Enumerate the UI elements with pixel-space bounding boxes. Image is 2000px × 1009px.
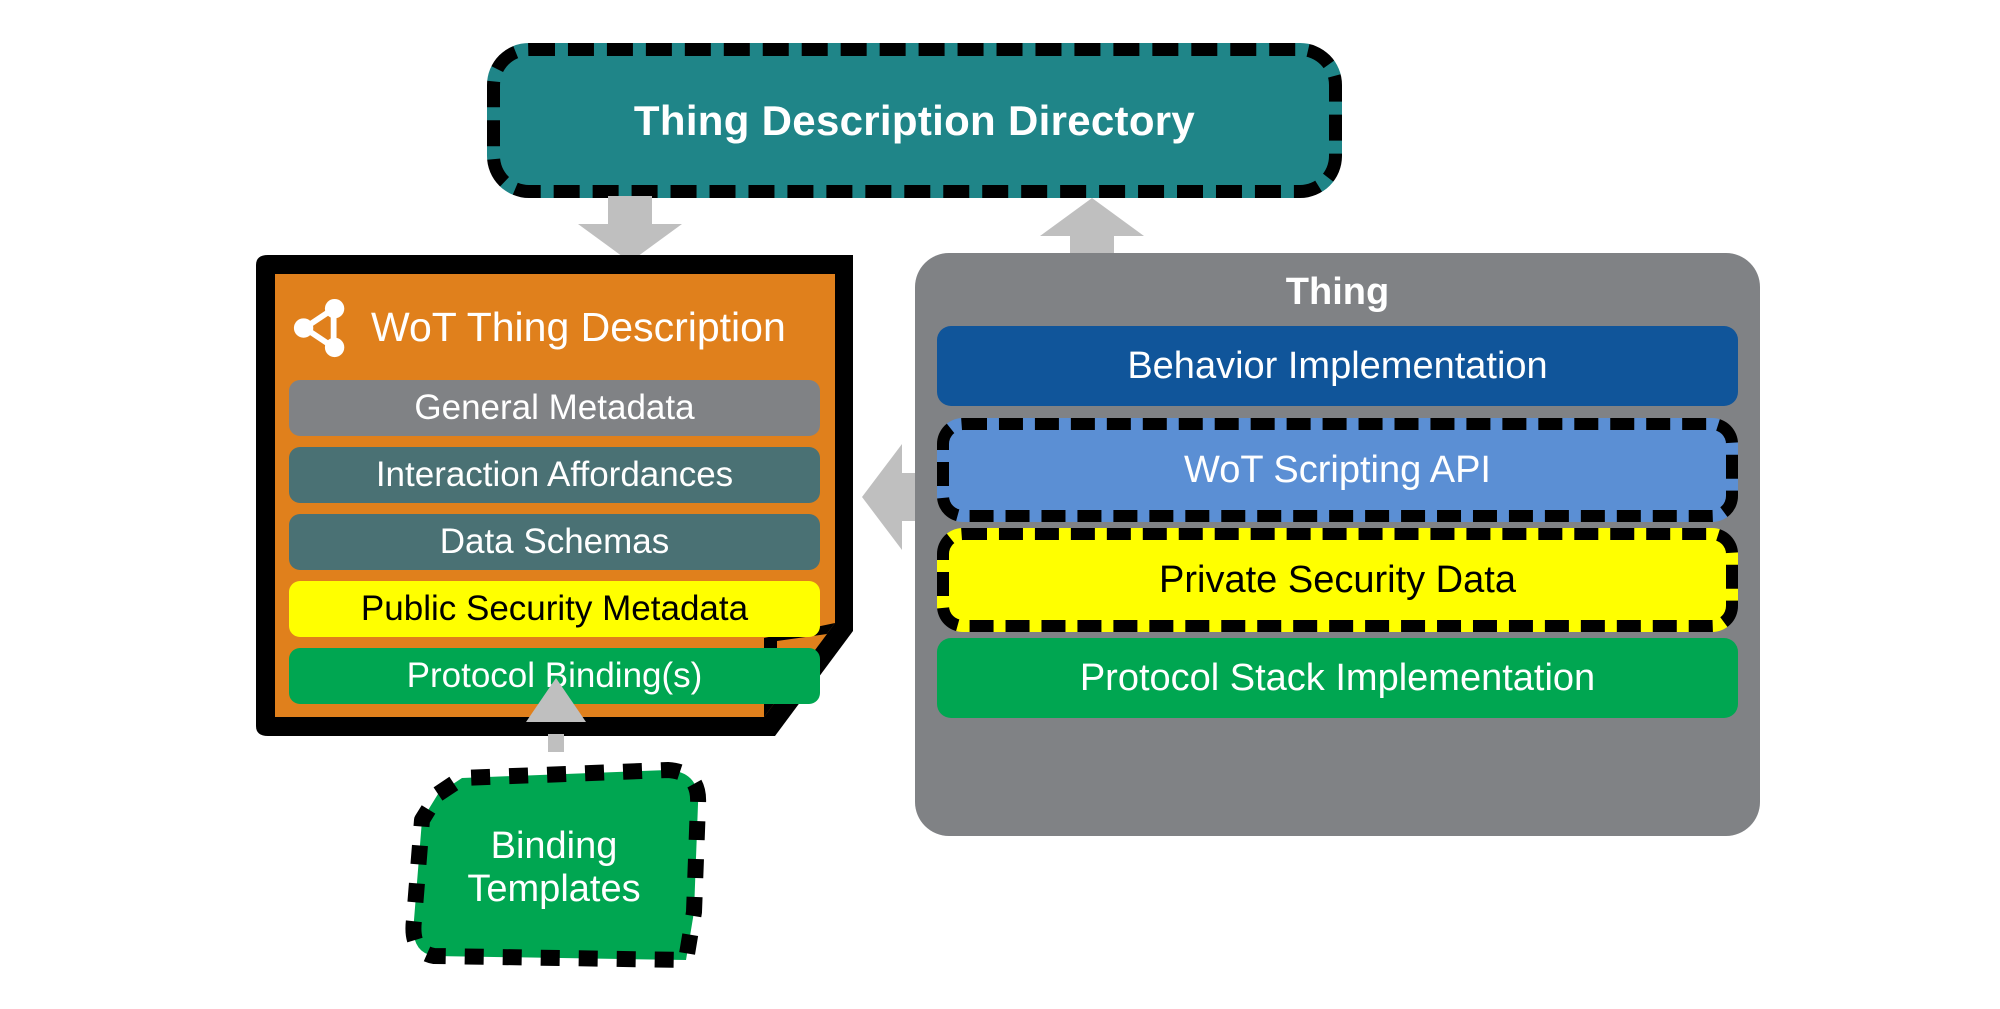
td-row-general-metadata[interactable]: General Metadata (289, 380, 820, 436)
thing-row-protocol-stack-implementation[interactable]: Protocol Stack Implementation (937, 638, 1738, 718)
thing-row-wot-scripting-api[interactable]: WoT Scripting API (937, 418, 1738, 522)
thing-box: Thing Behavior Implementation WoT Script… (915, 253, 1760, 836)
wot-triangle-network-icon (291, 297, 353, 359)
thing-row-private-security-data[interactable]: Private Security Data (937, 528, 1738, 632)
thing-row-wot-scripting-api-label: WoT Scripting API (1184, 449, 1491, 492)
td-row-public-security-metadata-label: Public Security Metadata (361, 589, 748, 629)
td-row-general-metadata-label: General Metadata (414, 388, 694, 428)
thing-row-private-security-data-label: Private Security Data (1159, 559, 1516, 602)
thing-row-protocol-stack-implementation-label: Protocol Stack Implementation (1080, 657, 1595, 700)
thing-description-title: WoT Thing Description (371, 304, 786, 351)
td-row-interaction-affordances-label: Interaction Affordances (376, 455, 733, 495)
thing-title: Thing (937, 253, 1738, 326)
binding-templates-shape[interactable]: Binding Templates (398, 760, 710, 975)
thing-row-behavior-implementation[interactable]: Behavior Implementation (937, 326, 1738, 406)
thing-description-header: WoT Thing Description (277, 275, 832, 380)
thing-description-rows: WoT Thing Description General Metadata I… (277, 275, 832, 715)
wot-thing-description-card: WoT Thing Description General Metadata I… (248, 253, 861, 738)
thing-description-directory-box: Thing Description Directory (487, 43, 1342, 198)
binding-templates-outline (398, 760, 710, 975)
td-row-data-schemas-label: Data Schemas (440, 522, 670, 562)
thing-row-behavior-implementation-label: Behavior Implementation (1127, 345, 1547, 388)
thing-description-directory-label: Thing Description Directory (634, 97, 1195, 145)
arrow-binding-templates-to-protocol-bindings (524, 678, 588, 764)
td-row-interaction-affordances[interactable]: Interaction Affordances (289, 447, 820, 503)
td-row-public-security-metadata[interactable]: Public Security Metadata (289, 581, 820, 637)
td-row-data-schemas[interactable]: Data Schemas (289, 514, 820, 570)
diagram-canvas: Thing Description Directory (0, 0, 2000, 1009)
